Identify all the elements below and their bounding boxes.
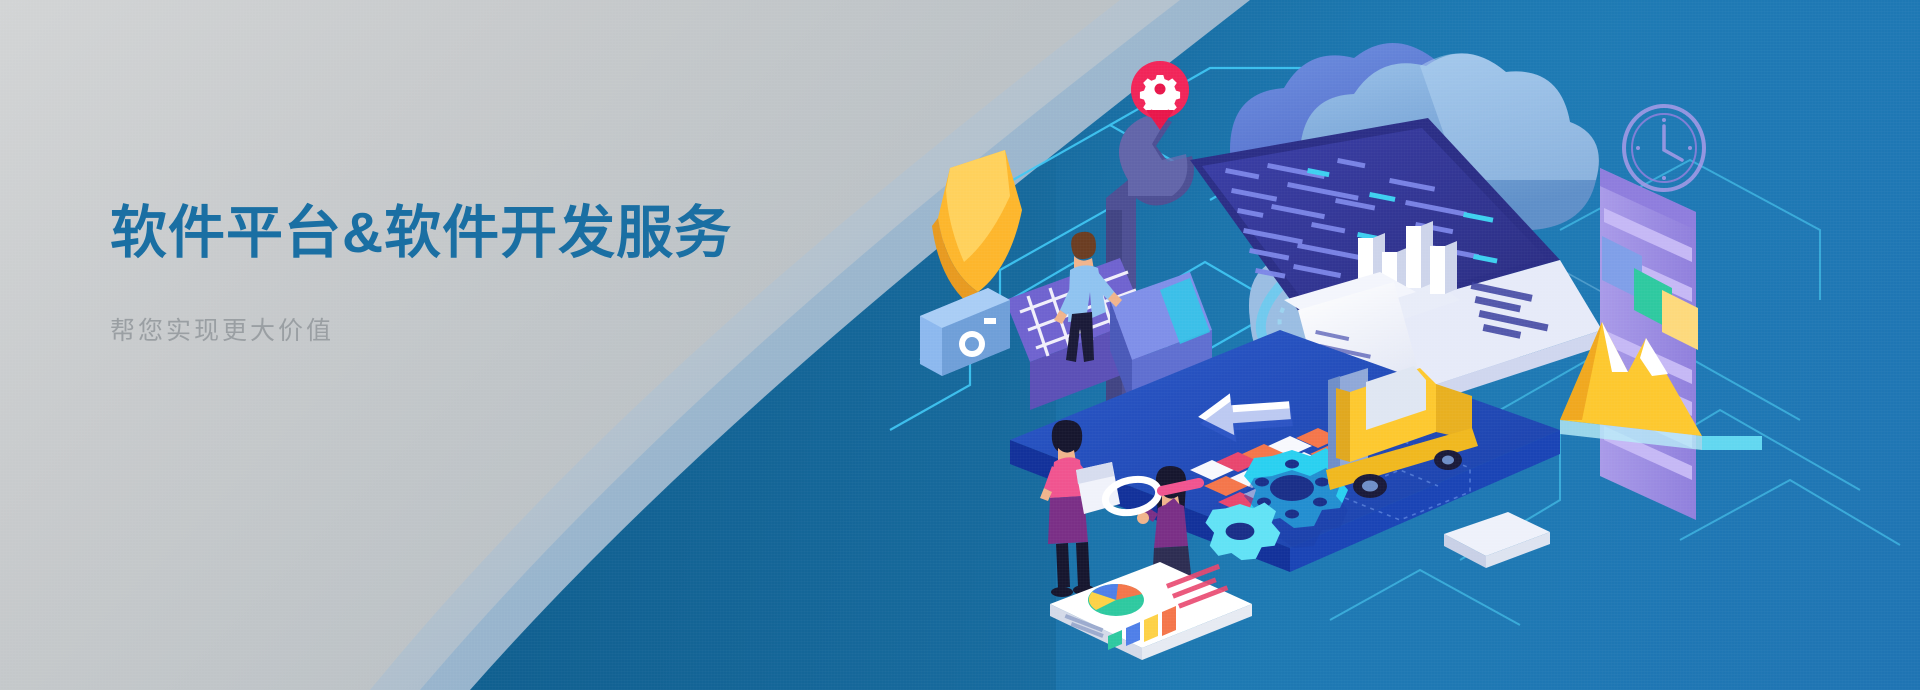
camera-icon xyxy=(920,288,1010,376)
hero-illustration xyxy=(860,0,1920,690)
hero-banner: 软件平台&软件开发服务 帮您实现更大价值 xyxy=(0,0,1920,690)
clock-icon xyxy=(1624,106,1704,190)
banner-title: 软件平台&软件开发服务 xyxy=(110,200,870,267)
pie-chart-icon xyxy=(1088,584,1144,616)
shield-icon xyxy=(932,150,1022,308)
banner-copy: 软件平台&软件开发服务 帮您实现更大价值 xyxy=(110,200,870,347)
banner-subtitle: 帮您实现更大价值 xyxy=(110,311,870,347)
